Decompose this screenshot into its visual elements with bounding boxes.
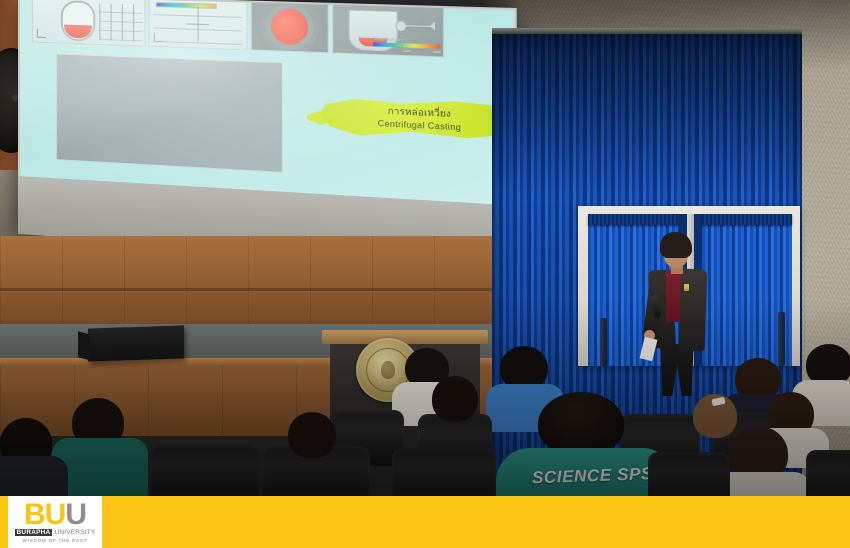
crucible-pour-simulation-panel: Temperature (deg F) 1200 2200 3100 (332, 3, 444, 58)
bottom-brand-banner: B U U BURAPHA UNIVERSITY WISDOM OF THE E… (0, 496, 850, 548)
curtain-rod (492, 28, 802, 34)
buu-tagline: WISDOM OF THE EAST (23, 538, 88, 543)
tick-mid: 2200 (403, 49, 411, 54)
axis-marker-icon (154, 33, 163, 43)
molten-metal-fill (64, 25, 92, 39)
audience-head (288, 412, 336, 458)
temperature-legend-ticks: 1200 2200 3100 (373, 48, 441, 55)
buu-letter-b: B (24, 502, 45, 528)
buu-wordmark: B U U (24, 502, 86, 528)
presentation-slide: Temperature (deg F) 1200 2200 3100 การหล… (20, 0, 514, 205)
simulation-panel-row: Temperature (deg F) 1200 2200 3100 (32, 0, 444, 58)
axis-marker-icon (37, 29, 46, 38)
audience-head (432, 376, 478, 422)
hot-zone-disc (271, 8, 308, 45)
audience: SCIENCE SPSM (0, 330, 850, 506)
audience-head-front (538, 392, 624, 456)
vector-field-arrows (99, 3, 142, 41)
buu-logo: B U U BURAPHA UNIVERSITY WISDOM OF THE E… (8, 496, 102, 548)
mold-fill-simulation-panel (32, 0, 146, 47)
stage-back-wall (0, 236, 500, 331)
rotating-disc-simulation-panel (251, 1, 329, 54)
presenter-hair (660, 232, 692, 258)
buu-letter-u2: U (65, 502, 86, 528)
buu-name-line: BURAPHA UNIVERSITY (15, 529, 96, 536)
tick-max: 3100 (433, 50, 441, 55)
stage-wall-seam (0, 288, 500, 291)
rotation-axis-icon (186, 6, 209, 42)
buu-letter-u1: U (45, 502, 66, 528)
screenshot-root: Temperature (deg F) 1200 2200 3100 การหล… (0, 0, 850, 548)
mold-cross-section-icon (61, 0, 95, 42)
buu-name-primary: BURAPHA (15, 529, 53, 536)
buu-name-secondary: UNIVERSITY (54, 529, 95, 536)
slide-caption-highlight: การหล่อเหวี่ยง Centrifugal Casting (320, 93, 514, 147)
temperature-legend: Temperature (deg F) 1200 2200 3100 (373, 37, 441, 54)
projection-screen: Temperature (deg F) 1200 2200 3100 การหล… (18, 0, 517, 269)
tick-min: 1200 (373, 48, 380, 53)
pour-arrow-icon (404, 25, 433, 27)
slide-media-placeholder (56, 53, 283, 172)
presenter-lapel-pin (684, 284, 689, 291)
streamline-simulation-panel (149, 0, 248, 50)
